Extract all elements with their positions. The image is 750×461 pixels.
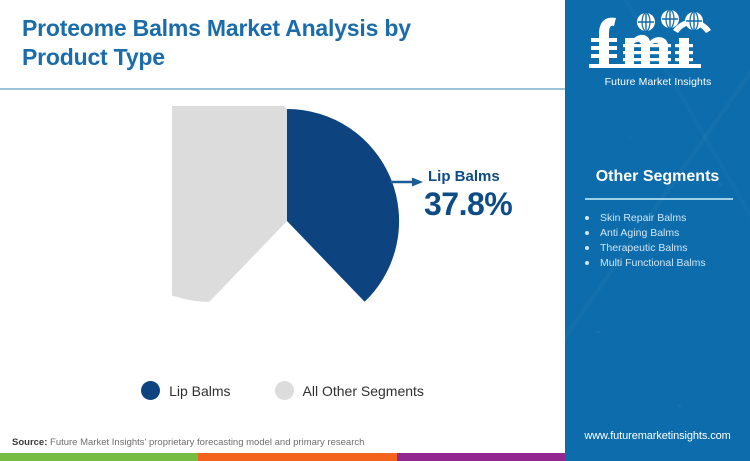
arrow-right-icon [390, 176, 424, 188]
bullet-icon [585, 246, 589, 250]
circle-swatch-icon [141, 381, 160, 400]
logo-tagline: Future Market Insights [587, 76, 729, 88]
pie-slice-all-other-segments[interactable] [172, 106, 287, 302]
bar-segment-orange [198, 453, 397, 461]
bullet-icon [585, 261, 589, 265]
source-text: Future Market Insights' proprietary fore… [47, 437, 364, 448]
segments-list: Skin Repair Balms Anti Aging Balms Thera… [583, 211, 748, 271]
list-item-label: Skin Repair Balms [600, 212, 686, 224]
bar-segment-purple [397, 453, 565, 461]
callout-label: Lip Balms [428, 168, 500, 185]
list-item-label: Therapeutic Balms [600, 242, 688, 254]
website-url[interactable]: www.futuremarketinsights.com [565, 430, 750, 442]
chart-legend: Lip Balms All Other Segments [0, 381, 565, 400]
page-title: Proteome Balms Market Analysis by Produc… [22, 14, 442, 73]
pie-slice-lip-balms[interactable] [287, 109, 399, 302]
source-label: Source: [12, 437, 47, 448]
content-area: Proteome Balms Market Analysis by Produc… [0, 0, 565, 461]
list-item: Multi Functional Balms [583, 256, 748, 271]
title-divider [0, 88, 565, 90]
callout-value: 37.8% [424, 186, 512, 223]
circle-swatch-icon [275, 381, 294, 400]
infographic-page: Proteome Balms Market Analysis by Produc… [0, 0, 750, 461]
list-item-label: Anti Aging Balms [600, 227, 679, 239]
bottom-color-bar [0, 453, 565, 461]
legend-label: Lip Balms [169, 383, 230, 399]
bar-segment-green [0, 453, 198, 461]
bullet-icon [585, 231, 589, 235]
list-item: Therapeutic Balms [583, 241, 748, 256]
pie-chart [0, 96, 565, 396]
segments-divider [585, 198, 733, 200]
source-note: Source: Future Market Insights' propriet… [12, 437, 364, 448]
pie-chart-svg [172, 106, 402, 336]
legend-item-lip-balms[interactable]: Lip Balms [141, 381, 230, 400]
list-item-label: Multi Functional Balms [600, 257, 706, 269]
fmi-logo-mark [587, 8, 729, 70]
bullet-icon [585, 216, 589, 220]
list-item: Skin Repair Balms [583, 211, 748, 226]
legend-item-all-other-segments[interactable]: All Other Segments [275, 381, 424, 400]
list-item: Anti Aging Balms [583, 226, 748, 241]
sidebar-panel: Future Market Insights Other Segments Sk… [565, 0, 750, 461]
fmi-logo: Future Market Insights [587, 8, 729, 88]
legend-label: All Other Segments [303, 383, 424, 399]
segments-heading: Other Segments [565, 168, 750, 186]
